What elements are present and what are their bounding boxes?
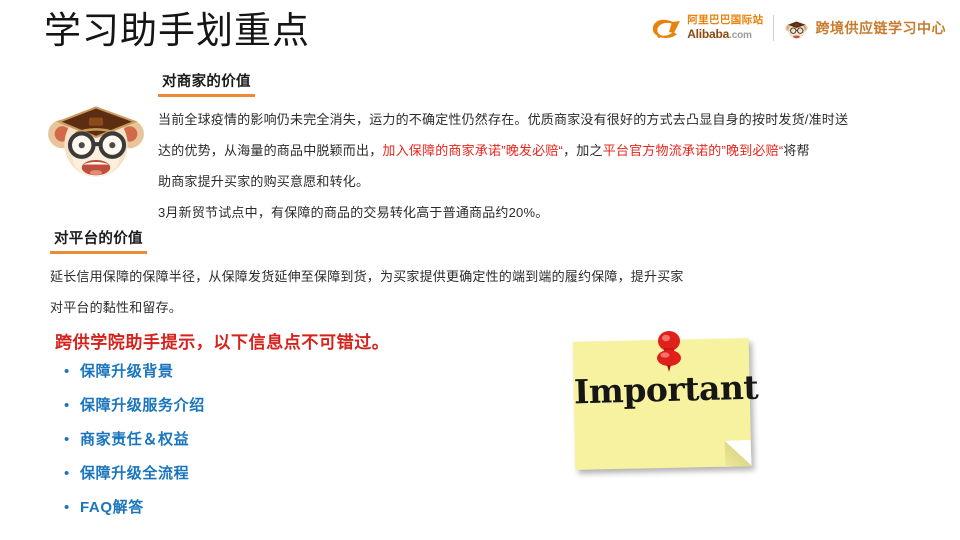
list-item-label: FAQ解答 <box>80 496 144 517</box>
page-title: 学习助手划重点 <box>44 6 310 56</box>
graduate-monkey-icon <box>783 15 810 42</box>
body-text: 当前全球疫情的影响仍未完全消失，运力的不确定性仍然存在。优质商家没有很好的方式去… <box>158 112 848 127</box>
list-item-label: 保障升级服务介绍 <box>80 394 205 415</box>
body-text: ，加之 <box>563 143 603 158</box>
body-text: 3月新贸节试点中，有保障的商品的交易转化高于普通商品约20%。 <box>158 205 548 220</box>
highlight-text: 加入保障的商家承诺”晚发必赔“ <box>382 143 563 158</box>
list-item[interactable]: • 保障升级背景 <box>64 360 205 394</box>
section-heading: 对平台的价值 <box>50 227 147 251</box>
alibaba-en-label: Alibaba.com <box>687 28 763 41</box>
alibaba-logo-icon <box>650 15 684 41</box>
alibaba-logo-text: 阿里巴巴国际站 Alibaba.com <box>687 15 763 41</box>
graduate-monkey-mascot-icon <box>44 86 148 188</box>
alibaba-domain-label: .com <box>729 30 752 41</box>
body-text: 将帮 <box>783 143 809 158</box>
list-item[interactable]: • 保障升级服务介绍 <box>64 394 205 428</box>
body-text: 对平台的黏性和留存。 <box>50 300 182 315</box>
bullet-dot-icon: • <box>64 364 80 379</box>
red-pushpin-icon <box>652 330 686 374</box>
alibaba-cn-label: 阿里巴巴国际站 <box>687 15 763 26</box>
body-line: 3月新贸节试点中，有保障的商品的交易转化高于普通商品约20%。 <box>158 197 848 228</box>
bullet-dot-icon: • <box>64 432 80 447</box>
sticky-note-text: Important <box>566 367 767 411</box>
body-line: 延长信用保障的保障半径，从保障发货延伸至保障到货，为买家提供更确定性的端到端的履… <box>50 261 684 292</box>
list-item-label: 保障升级背景 <box>80 360 174 381</box>
list-item[interactable]: • 商家责任＆权益 <box>64 428 205 462</box>
section-body: 延长信用保障的保障半径，从保障发货延伸至保障到货，为买家提供更确定性的端到端的履… <box>50 261 684 323</box>
section-underline <box>50 251 147 254</box>
section-underline <box>158 94 255 97</box>
sticky-note: Important <box>566 330 766 482</box>
body-line: 助商家提升买家的购买意愿和转化。 <box>158 166 848 197</box>
learning-center-logo: 跨境供应链学习中心 <box>783 15 947 42</box>
slide-canvas: 学习助手划重点 阿里巴巴国际站 Alibaba.com <box>0 0 960 540</box>
topic-list: • 保障升级背景 • 保障升级服务介绍 • 商家责任＆权益 • 保障升级全流程 … <box>64 360 205 530</box>
list-item[interactable]: • 保障升级全流程 <box>64 462 205 496</box>
body-text: 延长信用保障的保障半径，从保障发货延伸至保障到货，为买家提供更确定性的端到端的履… <box>50 269 684 284</box>
bullet-dot-icon: • <box>64 398 80 413</box>
list-item[interactable]: • FAQ解答 <box>64 496 205 530</box>
assistant-tip-text: 跨供学院助手提示，以下信息点不可错过。 <box>55 328 389 353</box>
alibaba-logo: 阿里巴巴国际站 Alibaba.com <box>650 15 763 41</box>
body-line: 对平台的黏性和留存。 <box>50 292 684 323</box>
bullet-dot-icon: • <box>64 466 80 481</box>
body-text: 达的优势，从海量的商品中脱颖而出， <box>158 143 382 158</box>
section-heading: 对商家的价值 <box>158 70 255 94</box>
bullet-dot-icon: • <box>64 500 80 515</box>
body-text: 助商家提升买家的购买意愿和转化。 <box>158 174 369 189</box>
list-item-label: 保障升级全流程 <box>80 462 189 483</box>
section-body: 当前全球疫情的影响仍未完全消失，运力的不确定性仍然存在。优质商家没有很好的方式去… <box>158 104 848 228</box>
body-line: 达的优势，从海量的商品中脱颖而出，加入保障的商家承诺”晚发必赔“，加之平台官方物… <box>158 135 848 166</box>
sticky-note-fold <box>725 440 752 467</box>
brand-divider <box>773 15 774 41</box>
learning-center-label: 跨境供应链学习中心 <box>816 18 947 38</box>
brand-bar: 阿里巴巴国际站 Alibaba.com <box>650 11 946 45</box>
body-line: 当前全球疫情的影响仍未完全消失，运力的不确定性仍然存在。优质商家没有很好的方式去… <box>158 104 848 135</box>
list-item-label: 商家责任＆权益 <box>80 428 189 449</box>
section-platform-value: 对平台的价值 延长信用保障的保障半径，从保障发货延伸至保障到货，为买家提供更确定… <box>50 227 684 323</box>
highlight-text: 平台官方物流承诺的”晚到必赔“ <box>603 143 784 158</box>
section-merchant-value: 对商家的价值 当前全球疫情的影响仍未完全消失，运力的不确定性仍然存在。优质商家没… <box>158 70 848 228</box>
